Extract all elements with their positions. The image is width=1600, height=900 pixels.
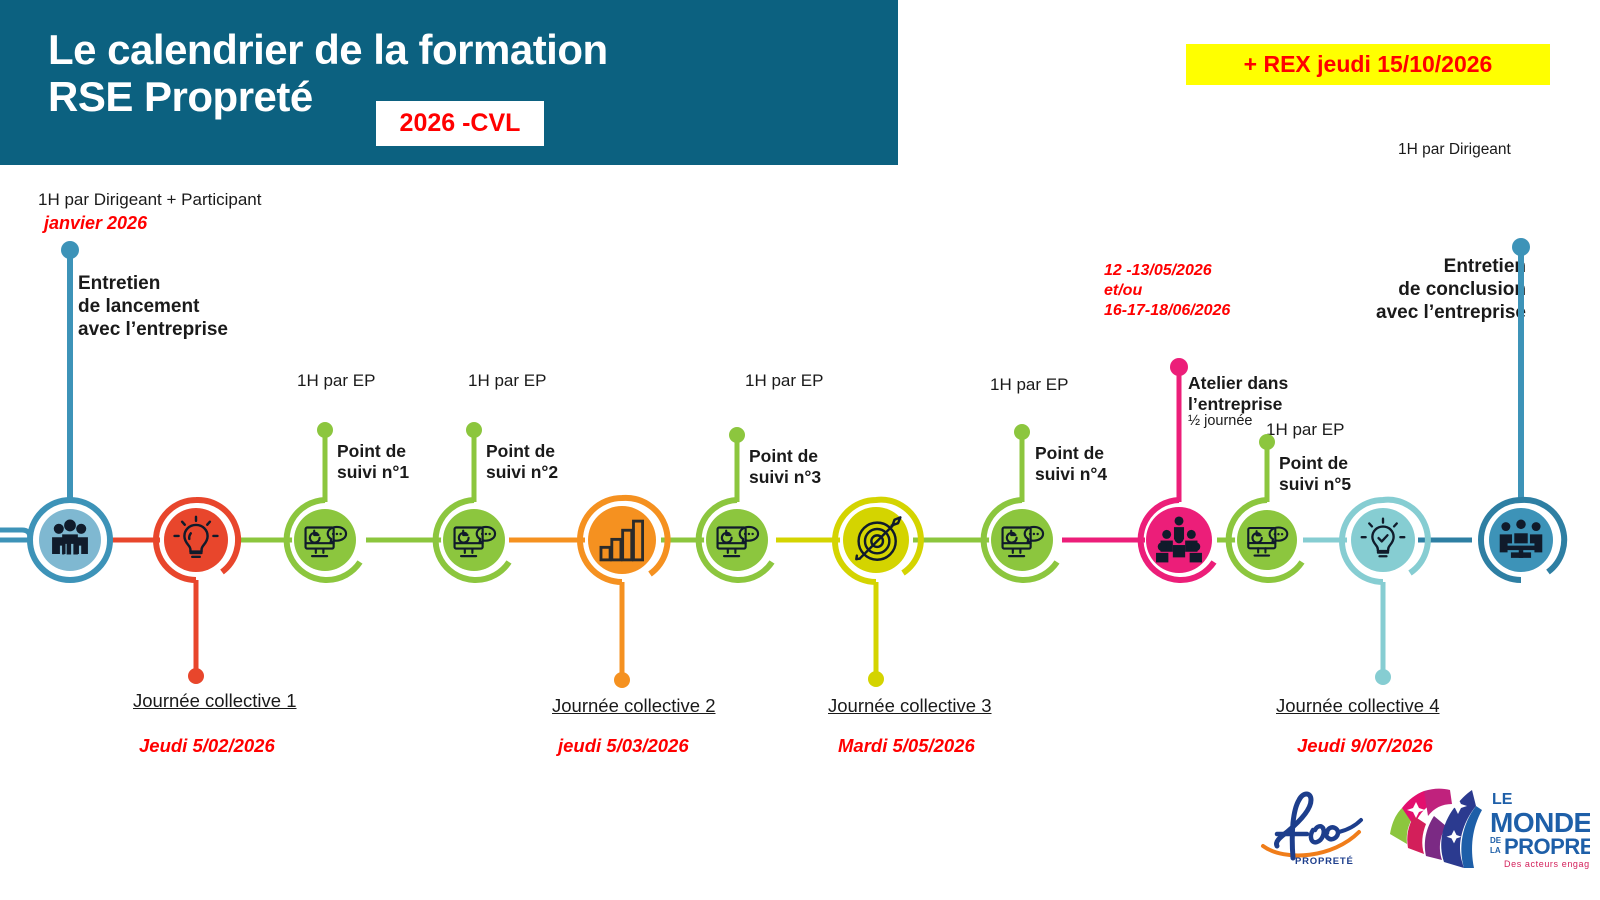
node-journee-collective-2[interactable] xyxy=(580,498,668,582)
stem-dot-ps3 xyxy=(729,427,745,443)
node-point-suivi-4[interactable] xyxy=(984,500,1057,580)
fare-propreté-logo: PROPRETÉ xyxy=(1255,786,1375,870)
node-point-suivi-1[interactable] xyxy=(287,500,360,580)
node-entretien-conclusion[interactable] xyxy=(1481,500,1564,580)
monde-swoosh xyxy=(1390,789,1482,868)
node-point-suivi-5[interactable] xyxy=(1229,500,1302,580)
stem-dot-jc1 xyxy=(188,668,204,684)
node-atelier-entreprise[interactable] xyxy=(1141,500,1214,580)
stem-dot-ps1 xyxy=(317,422,333,438)
stem-dot-ps2 xyxy=(466,422,482,438)
slide-canvas: Le calendrier de la formation RSE Propre… xyxy=(0,0,1600,900)
monde-logo-tagline: Des acteurs engagés xyxy=(1504,859,1590,869)
label-stems xyxy=(61,238,1530,688)
meeting-table-icon xyxy=(1500,520,1543,558)
node-point-suivi-3[interactable] xyxy=(699,500,772,580)
node-journee-collective-3[interactable] xyxy=(835,500,921,582)
timeline-diagram xyxy=(0,0,1600,900)
stem-dot-atelier xyxy=(1170,358,1188,376)
stem-dot-ps5 xyxy=(1259,434,1275,450)
stem-dot-ps4 xyxy=(1014,424,1030,440)
node-journee-collective-4[interactable] xyxy=(1342,500,1428,582)
stem-dot-conclusion xyxy=(1512,238,1530,256)
fare-logo-sub: PROPRETÉ xyxy=(1295,856,1354,867)
logo-group: PROPRETÉ LE MONDE DE LA PROPRETÉ Des act… xyxy=(1255,778,1590,878)
stem-dot-lancement xyxy=(61,241,79,259)
monde-logo-line1: LE xyxy=(1492,791,1513,808)
node-point-suivi-2[interactable] xyxy=(436,500,509,580)
stem-dot-jc4 xyxy=(1375,669,1391,685)
stem-dot-jc3 xyxy=(868,671,884,687)
monde-logo-line3b: LA xyxy=(1490,846,1501,855)
le-monde-de-la-propreté-logo: LE MONDE DE LA PROPRETÉ Des acteurs enga… xyxy=(1380,782,1590,874)
node-entretien-lancement[interactable] xyxy=(30,500,110,580)
node-journee-collective-1[interactable] xyxy=(156,500,238,580)
monde-logo-line3a: DE xyxy=(1490,836,1502,845)
monde-logo-line4: PROPRETÉ xyxy=(1504,834,1590,859)
stem-dot-jc2 xyxy=(614,672,630,688)
